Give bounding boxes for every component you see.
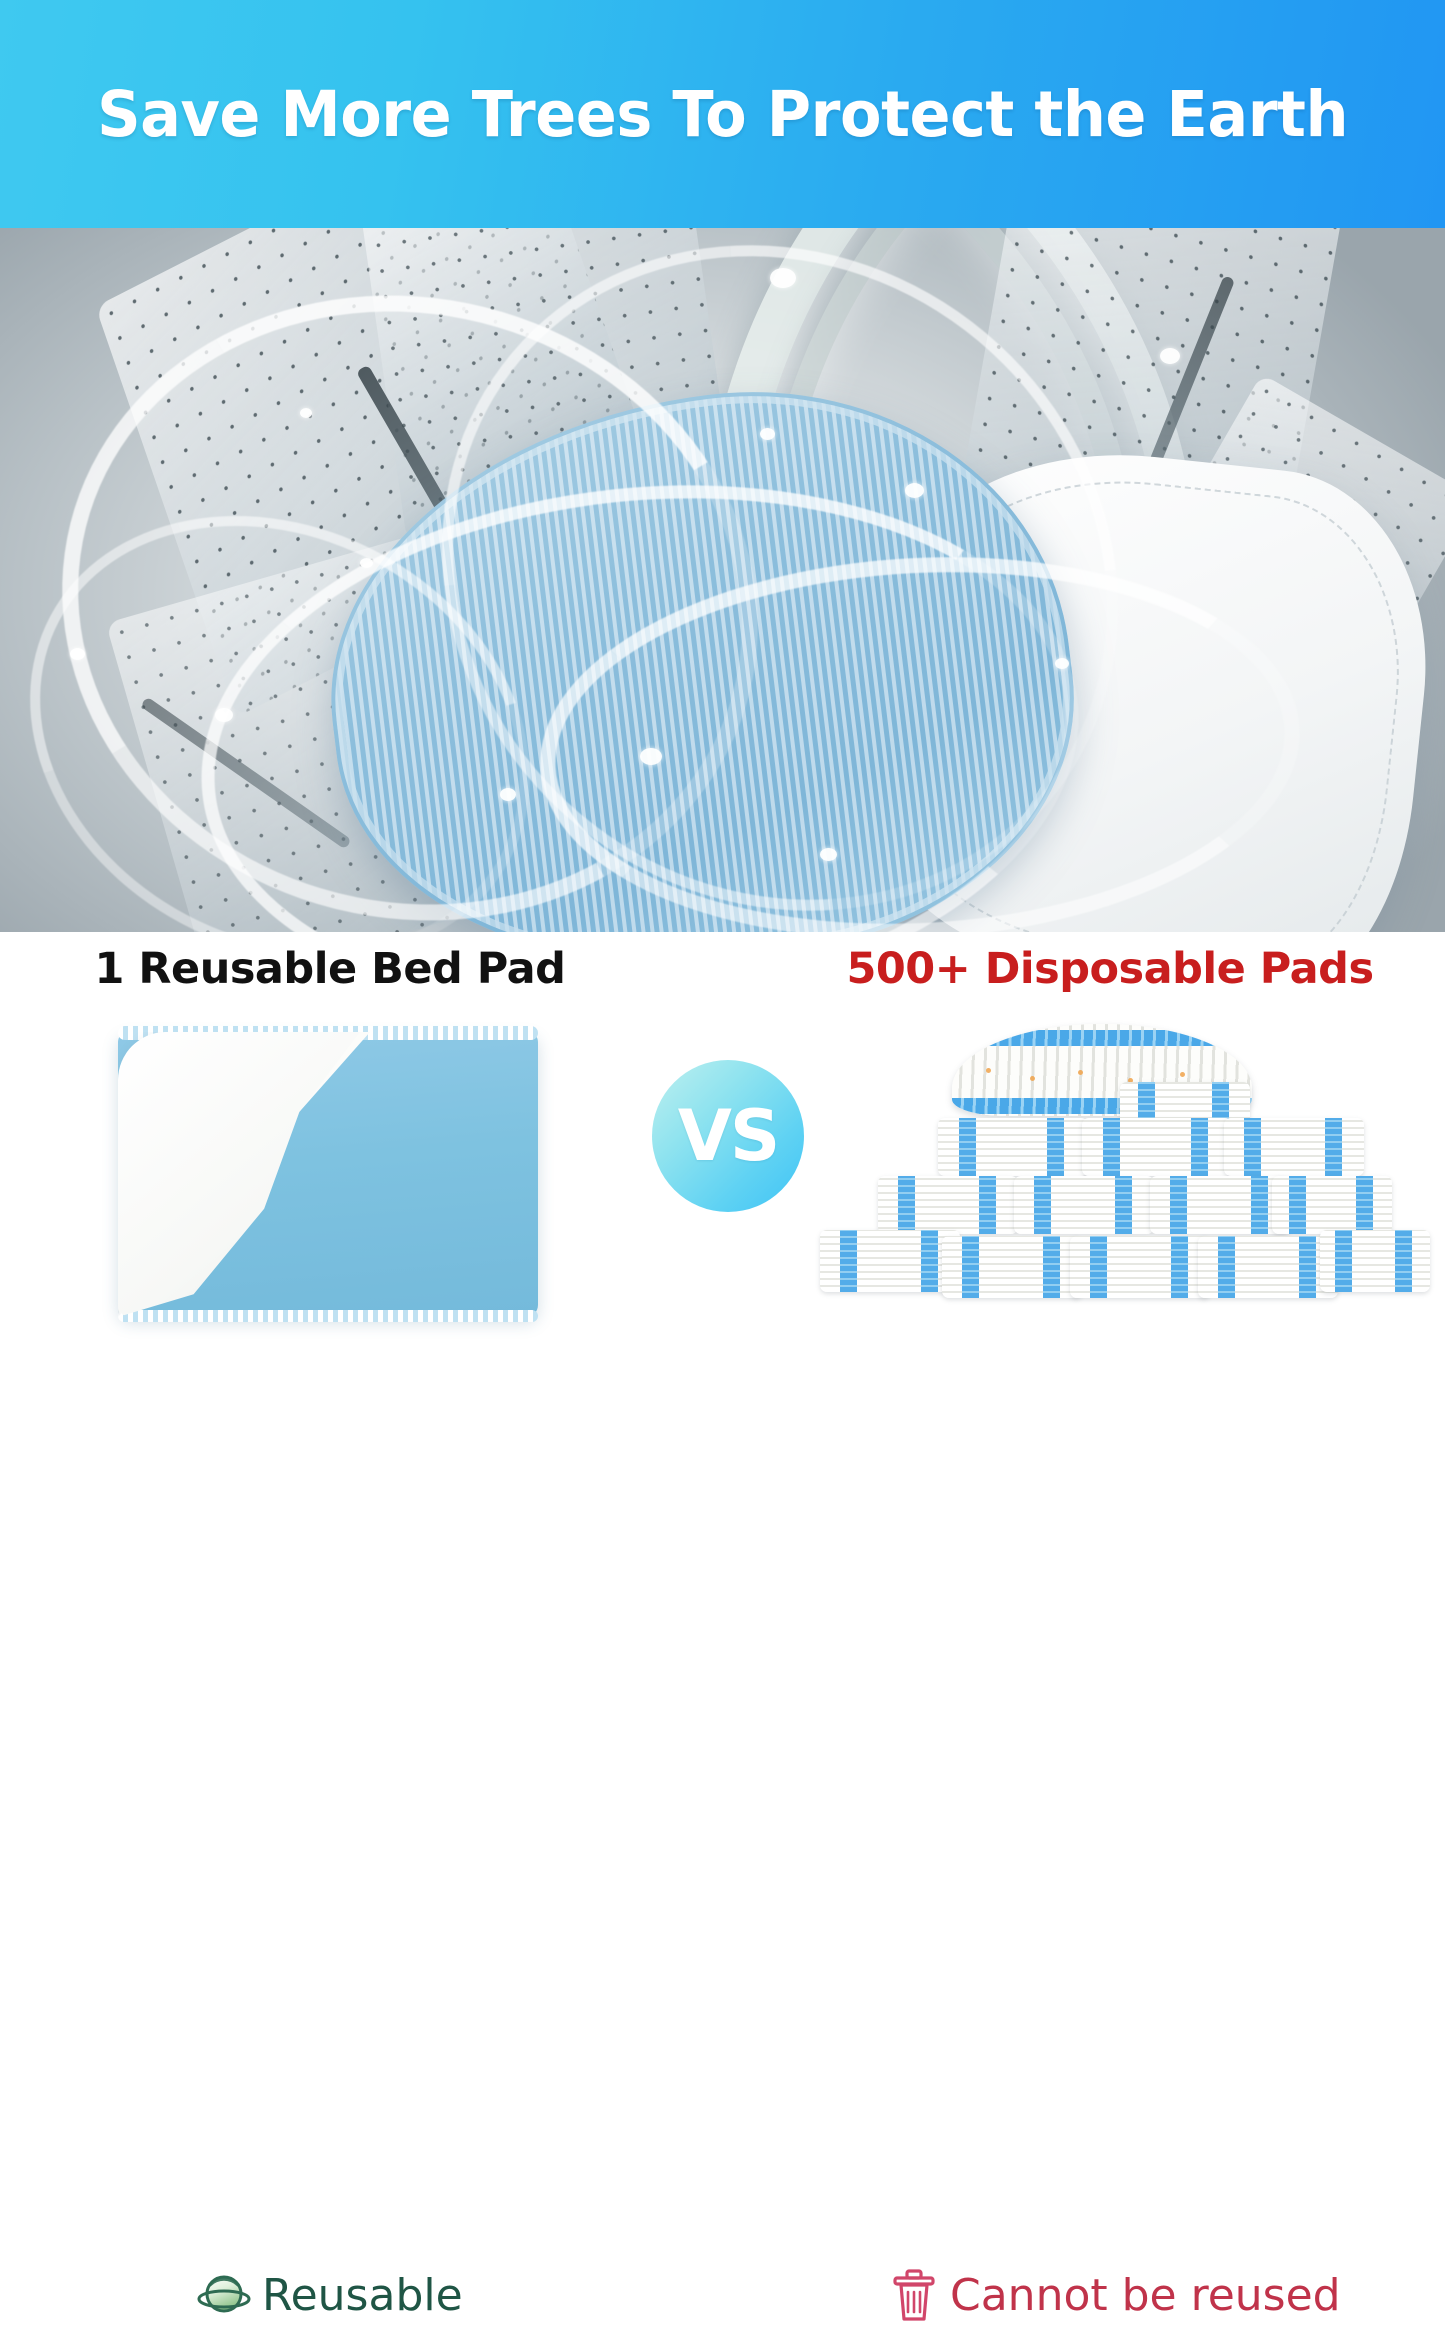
pad-bundle	[1198, 1236, 1338, 1298]
disposable-heading: 500+ Disposable Pads	[780, 944, 1440, 994]
pad-bundle	[938, 1118, 1088, 1176]
pad-bundle	[1320, 1230, 1430, 1292]
header-banner: Save More Trees To Protect the Earth	[0, 0, 1445, 228]
pad-bundle	[878, 1176, 1018, 1234]
disposable-pads-image	[820, 1024, 1365, 1319]
pad-bundle	[1014, 1176, 1154, 1234]
hero-photo-washing-machine	[0, 228, 1445, 932]
versus-badge: VS	[652, 1060, 804, 1212]
comparison-section: 1 Reusable Bed Pad 500+ Disposable Pads …	[0, 932, 1445, 1401]
reusable-heading: 1 Reusable Bed Pad	[0, 944, 660, 994]
disposable-caption-text: Cannot be reused	[950, 2270, 1341, 2321]
reusable-pad-image	[118, 1032, 538, 1317]
page-title: Save More Trees To Protect the Earth	[97, 78, 1348, 151]
product-infographic: Save More Trees To Protect the Earth	[0, 0, 1445, 1401]
pad-bundle	[1082, 1118, 1232, 1176]
pad-bundle	[1272, 1176, 1392, 1234]
trash-icon	[888, 2267, 940, 2323]
pad-bundle	[820, 1230, 960, 1292]
pad-bundle	[942, 1236, 1082, 1298]
disposable-caption: Cannot be reused	[888, 2262, 1341, 2328]
pad-bundle	[1224, 1118, 1364, 1176]
reusable-caption: Reusable	[196, 2262, 463, 2328]
pad-bundle	[1070, 1236, 1210, 1298]
reusable-caption-text: Reusable	[262, 2270, 463, 2321]
pad-bundle	[1150, 1176, 1290, 1234]
globe-icon	[196, 2269, 252, 2321]
versus-label: VS	[678, 1101, 779, 1171]
